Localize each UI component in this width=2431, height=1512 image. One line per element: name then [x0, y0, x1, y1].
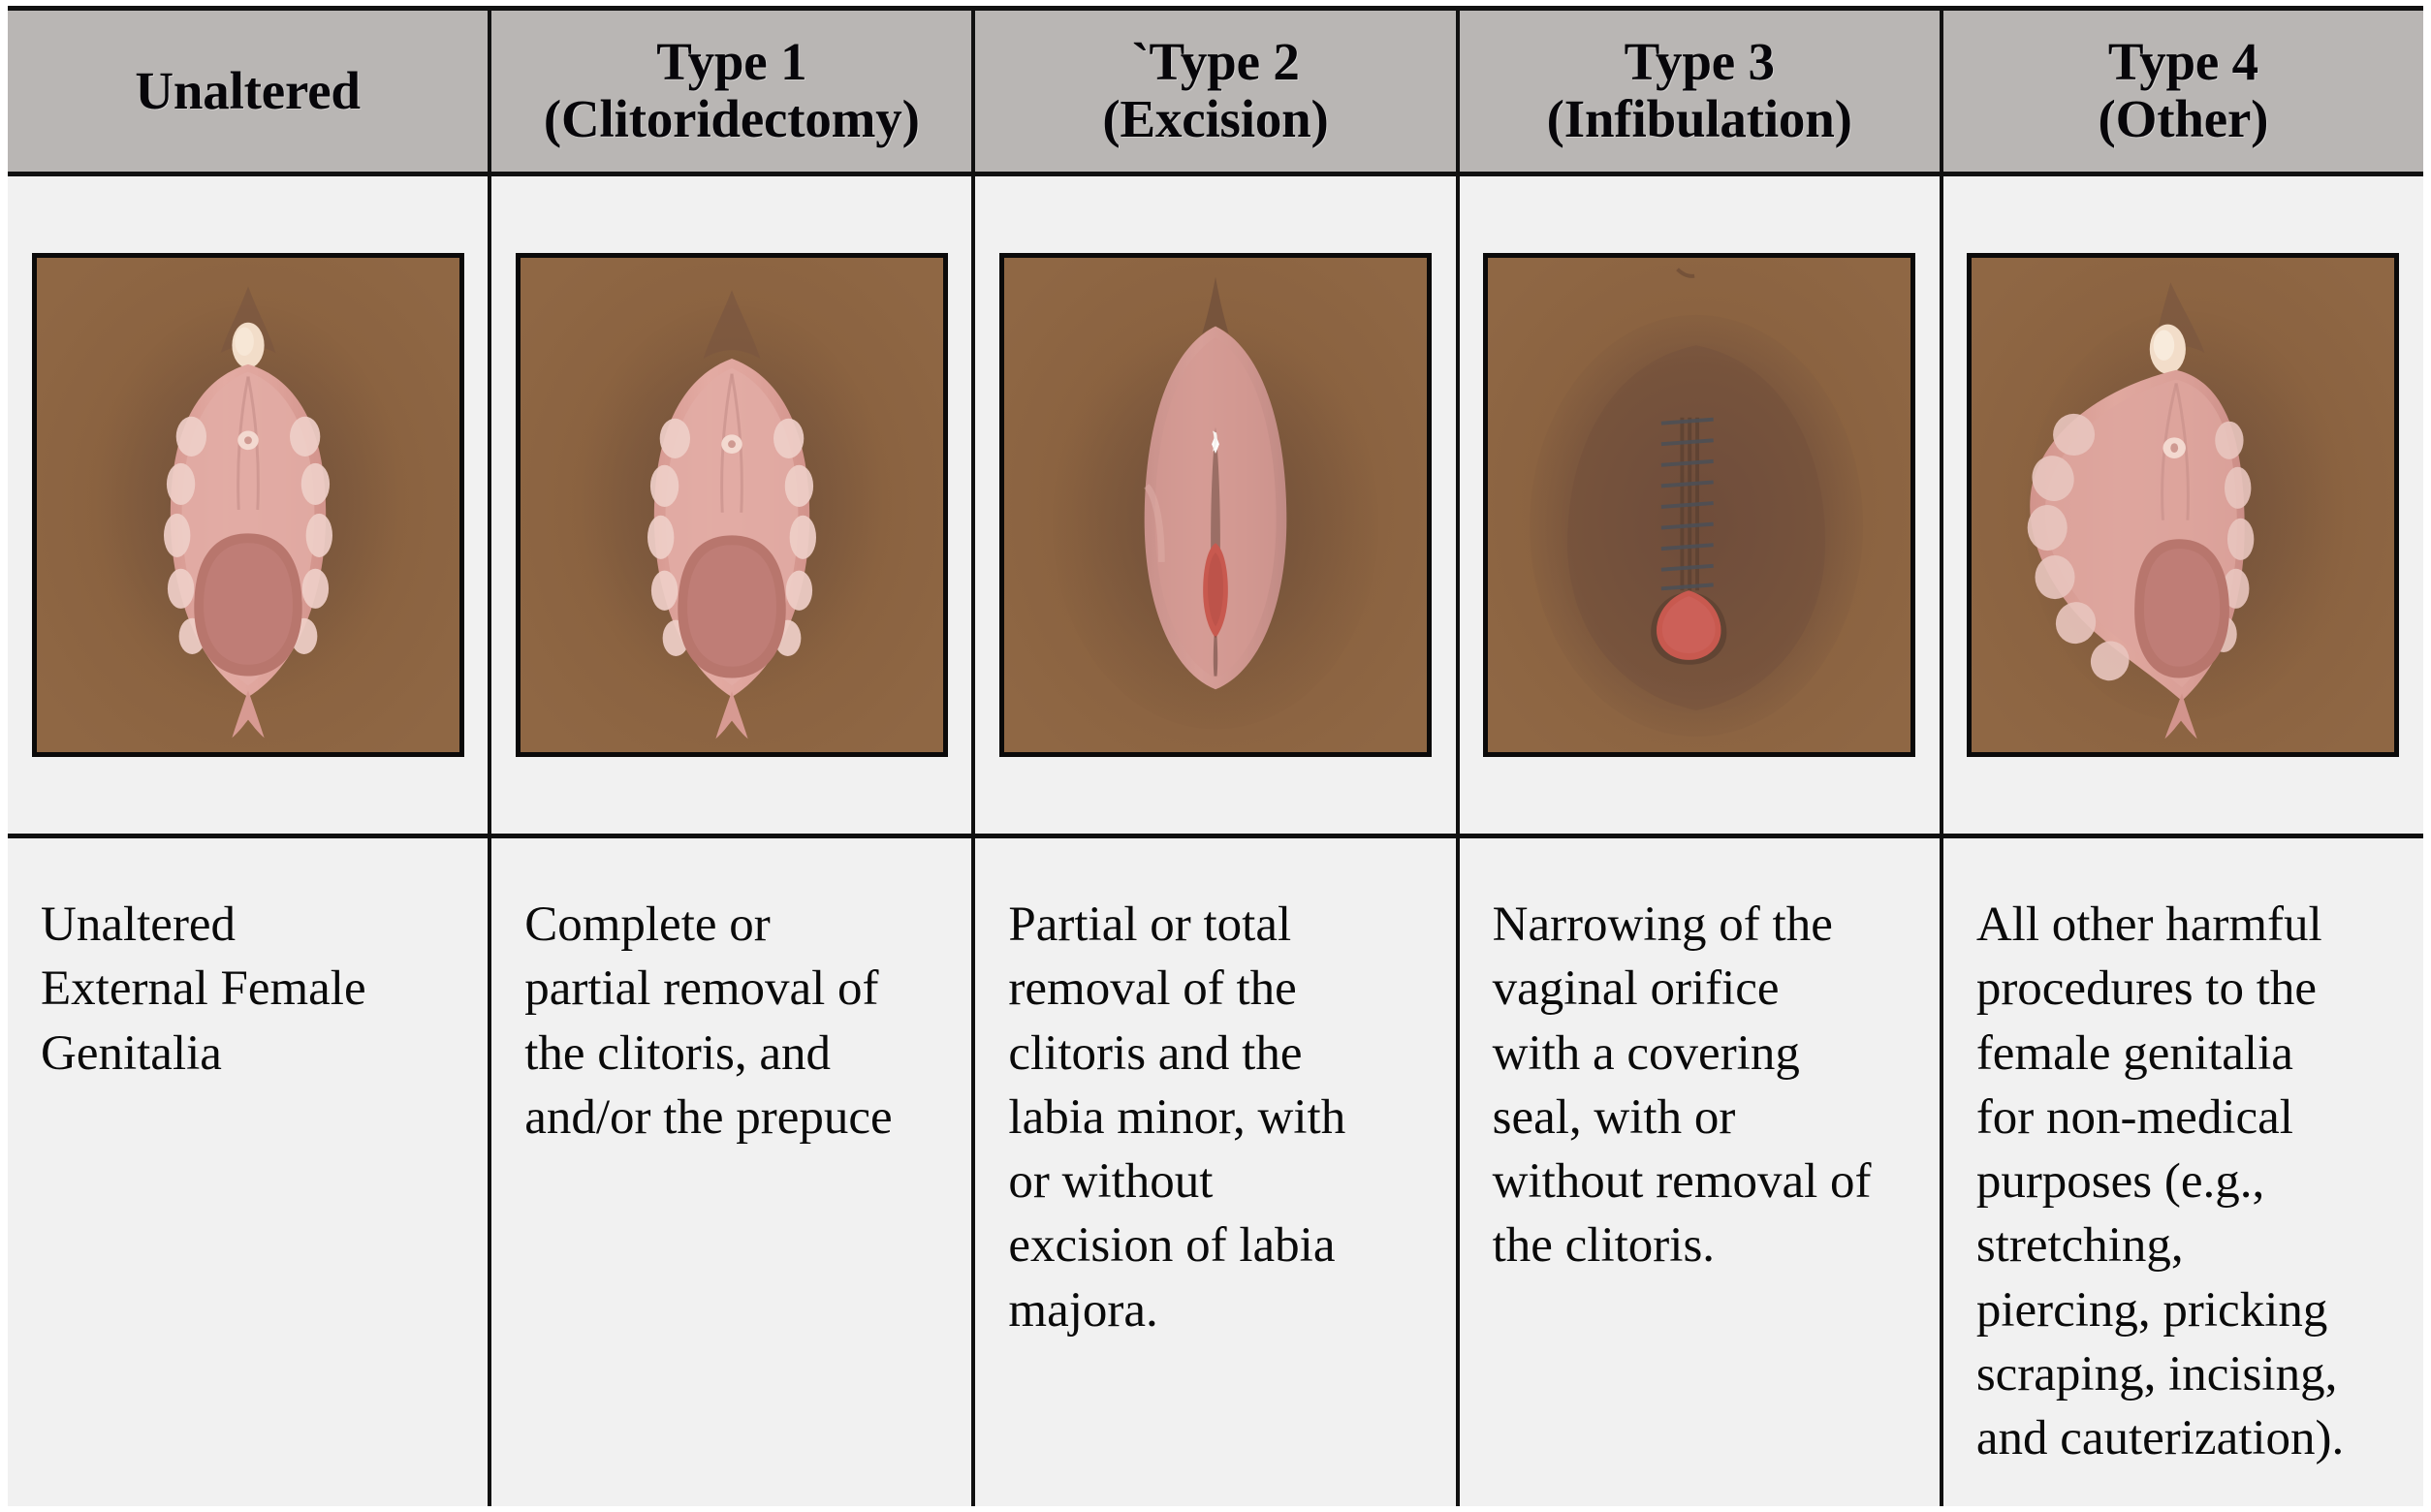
- description-text: Narrowing of the vaginal orifice with a …: [1493, 893, 1914, 1278]
- description-cell-type-4: All other harmful procedures to the fema…: [1943, 838, 2423, 1506]
- column-header-label: Type 3 (Infibulation): [1541, 34, 1858, 148]
- type3-infibulation-illustration: [1483, 253, 1915, 757]
- illustration-cell-unaltered: [8, 176, 491, 834]
- column-header-label: Type 1 (Clitoridectomy): [538, 34, 926, 148]
- column-header-label: `Type 2 (Excision): [1096, 34, 1334, 148]
- illustration-cell-type-2: [975, 176, 1459, 834]
- description-cell-unaltered: Unaltered External Female Genitalia: [8, 838, 491, 1506]
- header-cell-type-4: Type 4 (Other): [1943, 11, 2423, 172]
- header-cell-unaltered: Unaltered: [8, 11, 491, 172]
- illustration-cell-type-3: [1460, 176, 1943, 834]
- table-header-row: Unaltered Type 1 (Clitoridectomy) `Type …: [8, 6, 2423, 176]
- column-header-label: Type 4 (Other): [2093, 34, 2275, 148]
- description-text: Unaltered External Female Genitalia: [41, 893, 462, 1086]
- illustration-cell-type-1: [491, 176, 975, 834]
- header-cell-type-3: Type 3 (Infibulation): [1460, 11, 1943, 172]
- column-header-label: Unaltered: [129, 63, 365, 120]
- description-cell-type-2: Partial or total removal of the clitoris…: [975, 838, 1459, 1506]
- type4-other-illustration: [1967, 253, 2399, 757]
- table-illustration-row: [8, 176, 2423, 838]
- description-cell-type-1: Complete or partial removal of the clito…: [491, 838, 975, 1506]
- description-text: Complete or partial removal of the clito…: [524, 893, 946, 1150]
- description-cell-type-3: Narrowing of the vaginal orifice with a …: [1460, 838, 1943, 1506]
- header-cell-type-1: Type 1 (Clitoridectomy): [491, 11, 975, 172]
- description-text: Partial or total removal of the clitoris…: [1008, 893, 1430, 1342]
- unaltered-vulva-illustration: [32, 253, 464, 757]
- fgm-classification-table: Unaltered Type 1 (Clitoridectomy) `Type …: [0, 0, 2431, 1512]
- type2-excision-illustration: [999, 253, 1432, 757]
- type1-clitoridectomy-illustration: [516, 253, 948, 757]
- header-cell-type-2: `Type 2 (Excision): [975, 11, 1459, 172]
- table-description-row: Unaltered External Female Genitalia Comp…: [8, 838, 2423, 1506]
- description-text: All other harmful procedures to the fema…: [1976, 893, 2398, 1471]
- illustration-cell-type-4: [1943, 176, 2423, 834]
